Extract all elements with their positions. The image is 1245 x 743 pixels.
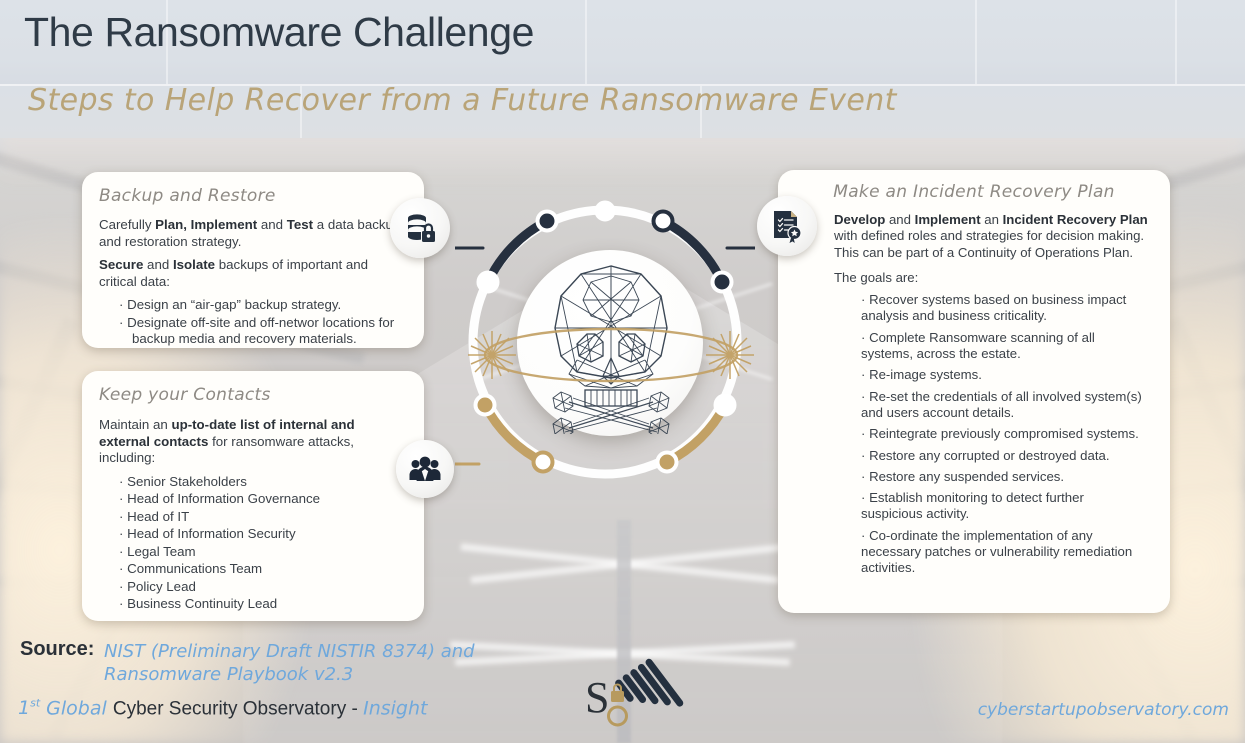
card-backup-and-restore: Backup and Restore Carefully Plan, Imple… — [82, 172, 424, 348]
brand-separator: - — [346, 698, 363, 719]
text-fragment: Carefully — [99, 217, 155, 232]
list-item: · Restore any corrupted or destroyed dat… — [848, 448, 1148, 464]
website-url: cyberstartupobservatory.com — [978, 700, 1229, 720]
badge-plan-icon — [757, 196, 817, 256]
list-item-label: Re-set the credentials of all involved s… — [861, 389, 1142, 420]
list-item: · Head of Information Governance — [119, 491, 407, 508]
source-text: NIST (Preliminary Draft NISTIR 8374) and… — [104, 640, 534, 686]
backup-paragraph-2: Secure and Isolate backups of important … — [99, 257, 407, 290]
list-item-label: Head of Information Governance — [127, 491, 320, 506]
list-item: · Policy Lead — [119, 579, 407, 596]
list-item-label: Re-image systems. — [869, 367, 982, 382]
text-fragment: Maintain an — [99, 417, 171, 432]
list-item-label: Head of IT — [127, 509, 189, 524]
text-bold: Incident Recovery Plan — [1003, 212, 1148, 227]
list-item: · Head of IT — [119, 509, 407, 526]
list-item: · Legal Team — [119, 544, 407, 561]
card-keep-your-contacts: Keep your Contacts Maintain an up-to-dat… — [82, 371, 424, 621]
text-bold: Implement — [915, 212, 981, 227]
backup-bullet-list: · Design an “air-gap” backup strategy. ·… — [119, 297, 407, 348]
text-bold: Secure — [99, 257, 143, 272]
list-item: · Complete Ransomware scanning of all sy… — [848, 330, 1148, 363]
brand-insight: Insight — [363, 697, 427, 719]
list-item: · Co-ordinate the implementation of any … — [848, 528, 1148, 577]
list-item: · Establish monitoring to detect further… — [848, 490, 1148, 523]
list-item-label: Business Continuity Lead — [127, 596, 277, 611]
card-title-backup: Backup and Restore — [99, 186, 407, 206]
header-grid-line — [1175, 0, 1177, 84]
list-item-label: Co-ordinate the implementation of any ne… — [861, 528, 1132, 576]
card-incident-recovery-plan: Make an Incident Recovery Plan Develop a… — [778, 170, 1170, 613]
list-item: · Reintegrate previously compromised sys… — [848, 426, 1148, 442]
text-fragment: with defined roles and strategies for de… — [834, 228, 1144, 259]
list-item: · Re-image systems. — [848, 367, 1148, 383]
svg-text:S: S — [585, 673, 609, 722]
list-item-label: Designate off-site and off-networ locati… — [127, 315, 394, 347]
brand-line: 1st Global Cyber Security Observatory - … — [18, 697, 427, 720]
card-title-plan: Make an Incident Recovery Plan — [800, 182, 1148, 202]
list-item: · Communications Team — [119, 561, 407, 578]
text-fragment: and — [143, 257, 173, 272]
list-item-label: Complete Ransomware scanning of all syst… — [861, 330, 1095, 361]
card-title-contacts: Keep your Contacts — [99, 385, 407, 405]
list-item: · Re-set the credentials of all involved… — [848, 389, 1148, 422]
list-item: · Restore any suspended services. — [848, 469, 1148, 485]
list-item: · Business Continuity Lead — [119, 596, 407, 613]
text-bold: Isolate — [173, 257, 215, 272]
text-fragment: an — [981, 212, 1003, 227]
infographic-canvas: The Ransomware Challenge Steps to Help R… — [0, 0, 1245, 743]
source-label: Source: — [20, 638, 94, 661]
brand-name: Cyber Security Observatory — [113, 698, 346, 719]
page-subtitle: Steps to Help Recover from a Future Rans… — [28, 83, 897, 118]
plan-paragraph-1: Develop and Implement an Incident Recove… — [834, 212, 1148, 261]
list-item-label: Restore any suspended services. — [869, 469, 1064, 484]
list-item-label: Restore any corrupted or destroyed data. — [869, 448, 1109, 463]
plan-goals-label: The goals are: — [834, 270, 1148, 286]
text-fragment: and — [257, 217, 287, 232]
list-item-label: Reintegrate previously compromised syste… — [869, 426, 1139, 441]
contacts-paragraph: Maintain an up-to-date list of internal … — [99, 417, 407, 467]
plan-bullet-list: · Recover systems based on business impa… — [848, 292, 1148, 576]
list-item-label: Communications Team — [127, 561, 262, 576]
brand-ordinal: 1st — [18, 697, 40, 719]
list-item: · Design an “air-gap” backup strategy. — [119, 297, 407, 314]
list-item-label: Senior Stakeholders — [127, 474, 247, 489]
text-bold: Develop — [834, 212, 885, 227]
text-bold: Test — [287, 217, 313, 232]
gold-orbit-band — [466, 300, 756, 410]
cso-logo-icon: S — [585, 650, 690, 730]
list-item: · Recover systems based on business impa… — [848, 292, 1148, 325]
text-fragment: and — [885, 212, 914, 227]
list-item: · Designate off-site and off-networ loca… — [119, 315, 407, 348]
list-item-label: Head of Information Security — [127, 526, 296, 541]
list-item-label: Establish monitoring to detect further s… — [861, 490, 1084, 521]
people-group-icon — [409, 456, 441, 482]
badge-contacts-icon — [396, 440, 454, 498]
list-item: · Senior Stakeholders — [119, 474, 407, 491]
database-lock-icon — [403, 211, 437, 245]
badge-backup-icon — [390, 198, 450, 258]
page-title: The Ransomware Challenge — [24, 9, 534, 56]
backup-paragraph-1: Carefully Plan, Implement and Test a dat… — [99, 217, 407, 250]
list-item-label: Recover systems based on business impact… — [861, 292, 1126, 323]
certificate-document-icon — [771, 209, 803, 243]
brand-global: Global — [40, 697, 113, 719]
list-item-label: Design an “air-gap” backup strategy. — [127, 297, 341, 312]
list-item: · Head of Information Security — [119, 526, 407, 543]
brand-ordinal-suffix: st — [30, 697, 40, 710]
header-grid-line — [585, 0, 587, 84]
header-grid-line — [975, 0, 977, 84]
list-item-label: Policy Lead — [127, 579, 196, 594]
contacts-bullet-list: · Senior Stakeholders · Head of Informat… — [119, 474, 407, 613]
list-item-label: Legal Team — [127, 544, 196, 559]
text-bold: Plan, Implement — [155, 217, 257, 232]
